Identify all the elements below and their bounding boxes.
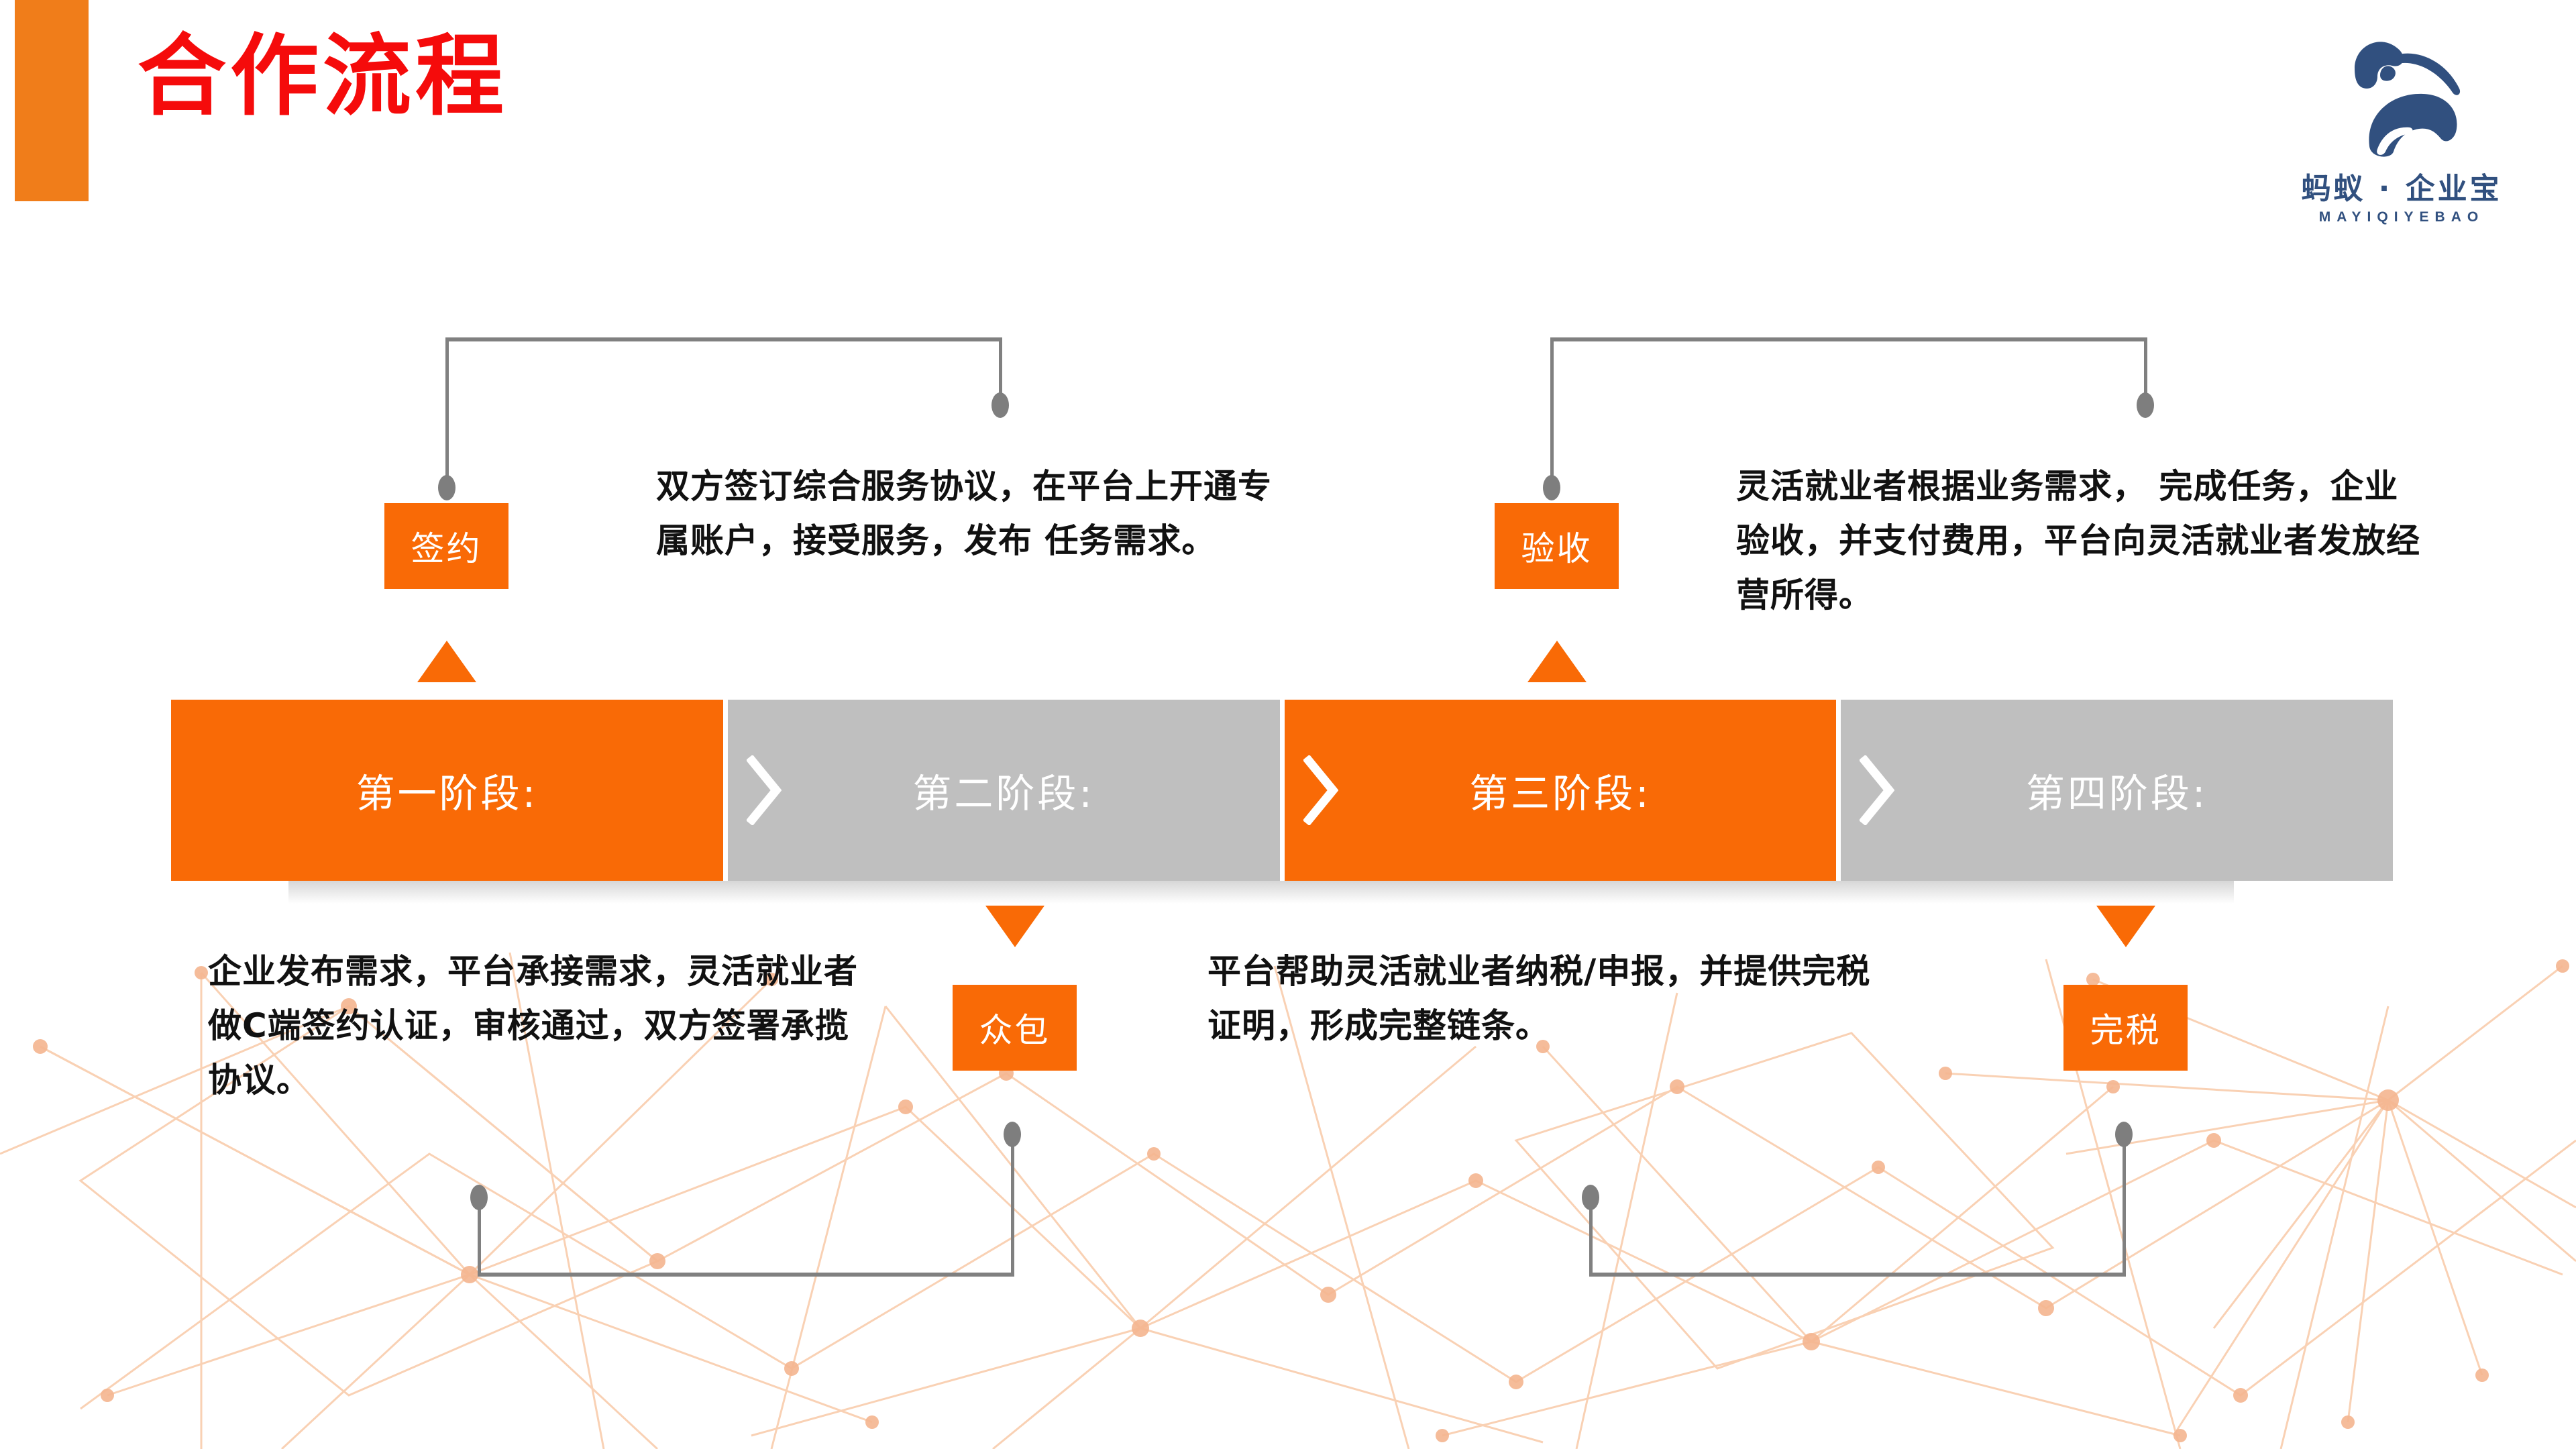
- connector-line: [1011, 1132, 1014, 1276]
- connector-line: [2144, 337, 2147, 405]
- logo-name-en: MAYIQIYEBAO: [2294, 209, 2509, 225]
- brand-logo: 蚂蚁 · 企业宝 MAYIQIYEBAO: [2294, 27, 2509, 248]
- pointer-triangle-up: [417, 641, 476, 682]
- connector-line: [1550, 337, 1554, 486]
- connector-line: [2123, 1132, 2126, 1276]
- connector-endpoint-dot: [1582, 1185, 1599, 1210]
- tag-tax[interactable]: 完税: [2063, 985, 2188, 1071]
- phase-label: 第三阶段:: [1469, 762, 1652, 818]
- phase-label: 第四阶段:: [2026, 762, 2208, 818]
- phase-bar: 第一阶段: 第二阶段: 第三阶段: 第四阶段:: [171, 700, 2393, 881]
- connector-line: [478, 1273, 1014, 1277]
- phase-segment-3[interactable]: 第三阶段:: [1285, 700, 1837, 881]
- callout-stage4: 灵活就业者根据业务需求， 完成任务，企业验收，并支付费用，平台向灵活就业者发放经…: [1736, 460, 2427, 623]
- connector-endpoint-dot: [1004, 1122, 1021, 1147]
- connector-endpoint-dot: [2137, 392, 2154, 418]
- tag-label: 签约: [411, 522, 482, 570]
- connector-line: [1589, 1195, 1593, 1276]
- pointer-triangle-down: [2096, 906, 2155, 947]
- connector-bracket-bottom-left: [478, 1132, 1014, 1277]
- chevron-right-icon: [1303, 755, 1338, 825]
- connector-line: [445, 337, 449, 486]
- phase-label: 第二阶段:: [912, 762, 1095, 818]
- tag-sign[interactable]: 签约: [384, 503, 508, 589]
- tag-label: 验收: [1521, 522, 1593, 570]
- logo-name-cn: 蚂蚁 · 企业宝: [2294, 164, 2509, 207]
- pointer-triangle-down: [985, 906, 1044, 947]
- chevron-right-icon: [747, 755, 782, 825]
- connector-line: [478, 1195, 481, 1276]
- phase-label: 第一阶段:: [356, 762, 539, 818]
- connector-line: [999, 337, 1002, 405]
- callout-stage1: 企业发布需求，平台承接需求，灵活就业者做C端签约认证，审核通过，双方签署承揽协议…: [208, 945, 872, 1108]
- callout-stage3: 平台帮助灵活就业者纳税/申报，并提供完税证明，形成完整链条。: [1207, 945, 1898, 1053]
- slide-canvas: 合作流程 蚂蚁 · 企业宝 MAYIQIYEBAO 签约 验收: [0, 0, 2576, 1449]
- connector-bracket-bottom-right: [1589, 1132, 2126, 1277]
- ant-logo-icon: [2328, 27, 2482, 161]
- phase-segment-4[interactable]: 第四阶段:: [1841, 700, 2393, 881]
- phase-bar-shadow: [288, 881, 2234, 904]
- tag-acceptance[interactable]: 验收: [1495, 503, 1619, 589]
- phase-segment-2[interactable]: 第二阶段:: [728, 700, 1280, 881]
- tag-label: 完税: [2090, 1004, 2161, 1052]
- phase-segment-1[interactable]: 第一阶段:: [171, 700, 723, 881]
- connector-endpoint-dot: [470, 1185, 488, 1210]
- connector-line: [445, 337, 1002, 341]
- connector-endpoint-dot: [438, 475, 455, 500]
- title-accent-bar: [15, 0, 89, 201]
- tag-label: 众包: [979, 1004, 1051, 1052]
- chevron-right-icon: [1860, 755, 1894, 825]
- connector-endpoint-dot: [2115, 1122, 2133, 1147]
- connector-line: [1550, 337, 2147, 341]
- connector-endpoint-dot: [991, 392, 1009, 418]
- connector-endpoint-dot: [1543, 475, 1560, 500]
- page-title: 合作流程: [138, 30, 508, 123]
- pointer-triangle-up: [1527, 641, 1587, 682]
- connector-line: [1589, 1273, 2126, 1277]
- tag-crowdsource[interactable]: 众包: [953, 985, 1077, 1071]
- callout-stage2: 双方签订综合服务协议，在平台上开通专属账户，接受服务，发布 任务需求。: [656, 460, 1300, 568]
